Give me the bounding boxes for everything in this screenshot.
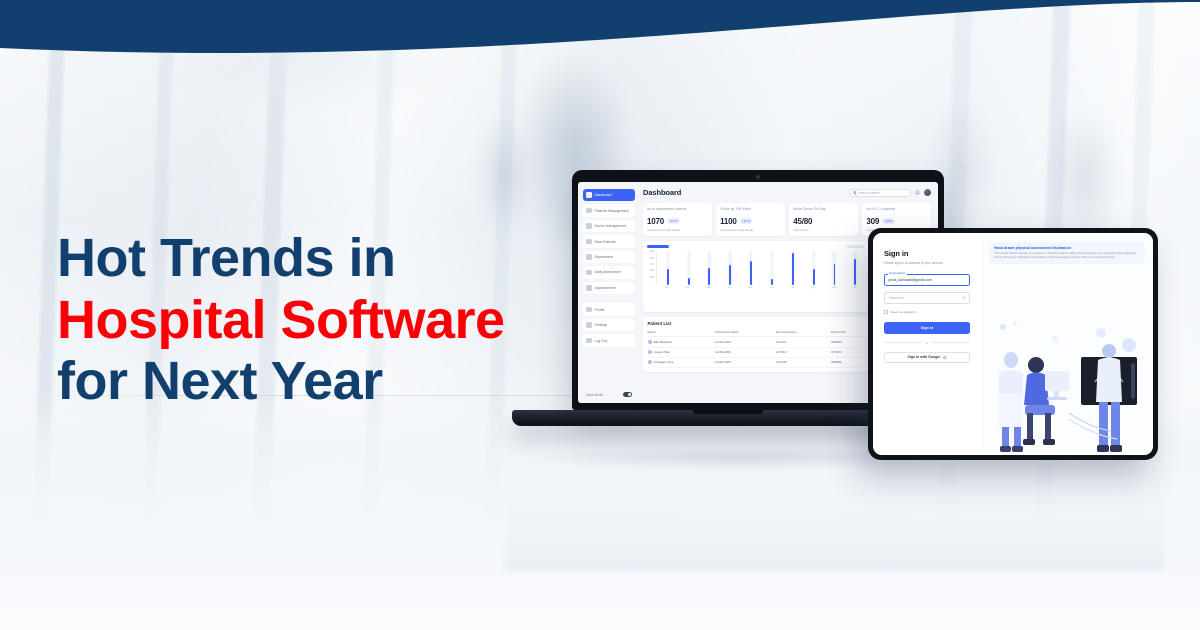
patient-name: James Paul — [654, 350, 670, 354]
dashboard-header: Dashboard Search patient — [643, 188, 931, 197]
sidebar-item-log-out[interactable]: Log Out — [583, 334, 635, 346]
cell-room-number: ALT201 — [776, 337, 831, 347]
sidebar-item-label: Profile — [595, 308, 605, 312]
keep-logged-in-checkbox[interactable] — [884, 310, 888, 314]
x-tick: Apr — [720, 287, 739, 289]
x-tick: Aug — [804, 287, 823, 289]
column-header: Patient ID — [831, 330, 868, 337]
sidebar-item-daily-attendance[interactable]: Daily Attendance — [583, 266, 635, 278]
floor-reflection — [505, 452, 1165, 572]
y-tick: 2000 — [649, 270, 654, 272]
kpi-label: No of Appointment patients — [647, 207, 708, 215]
sidebar-item-profile[interactable]: Profile — [583, 303, 635, 315]
calendar-icon — [586, 270, 592, 276]
y-axis-ticks: 500040003000200010000 — [647, 251, 656, 285]
bar-slot — [763, 251, 781, 285]
dark-mode-row[interactable]: Dark Mode — [583, 390, 635, 398]
gear-icon — [586, 322, 592, 328]
kpi-delta-badge: +10 % — [667, 218, 680, 224]
logout-icon — [586, 338, 592, 344]
bell-icon[interactable] — [915, 190, 920, 195]
cell-name: Ella Michaels — [648, 337, 716, 347]
headline-line-3: for Next Year — [57, 351, 505, 413]
xray-consultation-illustration — [981, 317, 1151, 455]
hierarchy-icon — [586, 254, 592, 260]
headline-line-1: Hot Trends in — [57, 228, 505, 290]
avatar — [648, 360, 652, 364]
sign-in-with-google-button[interactable]: Sign in with Google G — [884, 352, 970, 363]
header-actions: Search patient — [849, 189, 931, 197]
bar — [854, 259, 856, 286]
headline-line-2: Hospital Software — [57, 290, 505, 352]
bar-slot — [784, 251, 802, 285]
sidebar-item-label: Patients Management — [595, 209, 629, 213]
chart-icon — [586, 239, 592, 245]
bar-chart-card: 500040003000200010000 JanFebMarAprMayJun… — [643, 241, 869, 312]
signin-pane: Sign in Please sign in to continue to yo… — [873, 233, 981, 455]
user-icon — [586, 307, 592, 313]
patient-name: Annagan Jose — [654, 360, 674, 364]
bar — [688, 278, 690, 285]
page-title: Dashboard — [643, 188, 681, 197]
email-field-label: Email address — [888, 272, 907, 275]
bar-series — [656, 251, 865, 285]
x-tick: Jun — [762, 287, 781, 289]
assessment-note-body: "The results indicate that the X-ray sho… — [994, 252, 1140, 260]
kpi-delta-badge: +08 % — [882, 218, 895, 224]
sidebar-item-label: Appointments — [595, 286, 616, 290]
keep-logged-in-row[interactable]: Keep me logged in — [884, 310, 970, 314]
dashboard-sidebar: Dashboard Patients Management Doctor Man… — [578, 182, 640, 403]
bar — [813, 269, 815, 285]
sidebar-item-department[interactable]: Department — [583, 251, 635, 263]
kpi-card-active-doctors: Active Doctor On Duty 45/80 Total Doctor — [789, 203, 858, 236]
y-tick: 3000 — [649, 264, 654, 266]
kpi-label: No of I.C.U patients — [866, 207, 927, 215]
bar — [667, 269, 669, 285]
column-header: Admission Date — [715, 330, 776, 337]
x-tick: Sep — [825, 287, 844, 289]
sidebar-item-doctor-management[interactable]: Doctor Management — [583, 220, 635, 232]
tablet-device: Sign in Please sign in to continue to yo… — [868, 228, 1158, 460]
cell-admission-date: 12-09-2023 — [715, 347, 776, 357]
assessment-note-card: Hand drawn physical assessment illustrat… — [989, 242, 1145, 264]
sidebar-divider — [583, 297, 635, 300]
webcam-icon — [756, 175, 760, 179]
y-tick: 1000 — [649, 277, 654, 279]
kpi-card-appointments: No of Appointment patients 1070 +10 % Co… — [643, 203, 712, 236]
email-field-value: jonas_kahnwald@gmail.com — [889, 278, 932, 282]
cell-room-number: ALT310 — [776, 347, 831, 357]
kpi-delta-badge: +10 % — [740, 218, 753, 224]
x-tick: Feb — [678, 287, 697, 289]
x-axis-ticks: JanFebMarAprMayJunJulAugSepOct — [647, 287, 865, 289]
assessment-note-title: Hand drawn physical assessment illustrat… — [994, 246, 1140, 250]
y-tick: 0 — [653, 283, 654, 285]
cell-patient-id: 020861 — [831, 357, 868, 367]
sidebar-item-label: Dashboard — [595, 193, 612, 197]
sidebar-item-label: Settings — [595, 323, 608, 327]
password-field[interactable]: Password — [884, 292, 970, 304]
bar-slot — [659, 251, 677, 285]
cell-patient-id: 025080 — [831, 337, 868, 347]
kpi-subtext: Compared to (Last Week) — [647, 228, 708, 232]
patients-icon — [586, 208, 592, 214]
kpi-subtext: Total Doctor — [793, 228, 854, 232]
divider-or: or — [884, 341, 970, 345]
sidebar-item-label: Daily Attendance — [595, 270, 621, 274]
sidebar-item-label: Log Out — [595, 339, 607, 343]
navy-curved-banner — [0, 0, 1200, 80]
dark-mode-toggle[interactable] — [623, 392, 632, 397]
laptop-notch — [693, 410, 763, 414]
google-g-icon: G — [943, 355, 946, 360]
bar — [771, 279, 773, 285]
kpi-label: Active Doctor On Duty — [793, 207, 854, 215]
signin-title: Sign in — [884, 249, 970, 258]
kpi-label: Follow up THE Week — [720, 207, 781, 215]
calendar-check-icon — [586, 285, 592, 291]
sidebar-item-settings[interactable]: Settings — [583, 319, 635, 331]
headline: Hot Trends in Hospital Software for Next… — [57, 228, 505, 413]
x-tick: Jan — [658, 287, 677, 289]
tablet-screen: Sign in Please sign in to continue to yo… — [873, 233, 1153, 455]
sign-in-button[interactable]: Sign in — [884, 322, 970, 334]
sidebar-item-total-patients[interactable]: Total Patients — [583, 235, 635, 247]
sidebar-item-label: Doctor Management — [595, 224, 627, 228]
kpi-value: 309 — [866, 217, 879, 226]
cell-room-number: ALT245 — [776, 357, 831, 367]
bar — [792, 253, 794, 285]
kpi-card-followup: Follow up THE Week 1100 +10 % Compared t… — [716, 203, 785, 236]
kpi-value: 1070 — [647, 217, 664, 226]
column-header: Room Number — [776, 330, 831, 337]
x-tick: Jul — [783, 287, 802, 289]
chart-legend — [647, 245, 865, 248]
illustration-pane: Hand drawn physical assessment illustrat… — [981, 233, 1153, 455]
keep-logged-in-label: Keep me logged in — [891, 310, 917, 314]
bar-slot — [700, 251, 718, 285]
sidebar-item-dashboard[interactable]: Dashboard — [583, 189, 635, 201]
cell-admission-date: 12-09-2023 — [715, 337, 776, 347]
bar-slot — [804, 251, 822, 285]
kpi-value: 45/80 — [793, 217, 812, 226]
x-tick: Mar — [699, 287, 718, 289]
eye-icon[interactable] — [962, 296, 966, 300]
patient-name: Ella Michaels — [654, 340, 672, 344]
sidebar-item-patients-management[interactable]: Patients Management — [583, 204, 635, 216]
search-placeholder: Search patient — [858, 191, 880, 195]
kpi-subtext: Compared to (Last Week) — [720, 228, 781, 232]
avatar — [648, 340, 652, 344]
doctor-icon — [586, 223, 592, 229]
bar-slot — [721, 251, 739, 285]
legend-item-this-month — [647, 245, 669, 248]
legend-item-last-month — [847, 245, 865, 248]
bar — [729, 265, 731, 285]
dark-mode-label: Dark Mode — [586, 393, 603, 397]
sidebar-item-label: Total Patients — [595, 240, 616, 244]
patient-list-title: Patient List — [648, 321, 672, 326]
email-field[interactable]: Email address jonas_kahnwald@gmail.com — [884, 274, 970, 286]
divider-label: or — [926, 341, 929, 345]
bar — [750, 261, 752, 285]
cell-patient-id: 079124 — [831, 347, 868, 357]
x-tick: Oct — [846, 287, 865, 289]
avatar — [648, 350, 652, 354]
bar-chart-plot: 500040003000200010000 — [647, 251, 865, 285]
search-icon — [853, 191, 856, 194]
bar-slot — [846, 251, 864, 285]
cell-admission-date: 12-09-2023 — [715, 357, 776, 367]
cell-name: Annagan Jose — [648, 357, 716, 367]
bar-slot — [825, 251, 843, 285]
y-tick: 4000 — [649, 258, 654, 260]
bar-slot — [679, 251, 697, 285]
google-button-label: Sign in with Google — [908, 355, 941, 359]
y-tick: 5000 — [649, 251, 654, 253]
password-field-placeholder: Password — [889, 296, 904, 300]
signin-subtitle: Please sign in to continue to your accou… — [884, 261, 970, 265]
sidebar-spacer — [583, 350, 635, 387]
x-tick: May — [741, 287, 760, 289]
search-input[interactable]: Search patient — [849, 189, 911, 197]
kpi-value: 1100 — [720, 217, 737, 226]
bar-slot — [742, 251, 760, 285]
grid-icon — [586, 192, 592, 198]
avatar[interactable] — [924, 189, 931, 196]
sidebar-item-appointments[interactable]: Appointments — [583, 282, 635, 294]
cell-name: James Paul — [648, 347, 716, 357]
sidebar-item-label: Department — [595, 255, 613, 259]
column-header: Name — [648, 330, 716, 337]
